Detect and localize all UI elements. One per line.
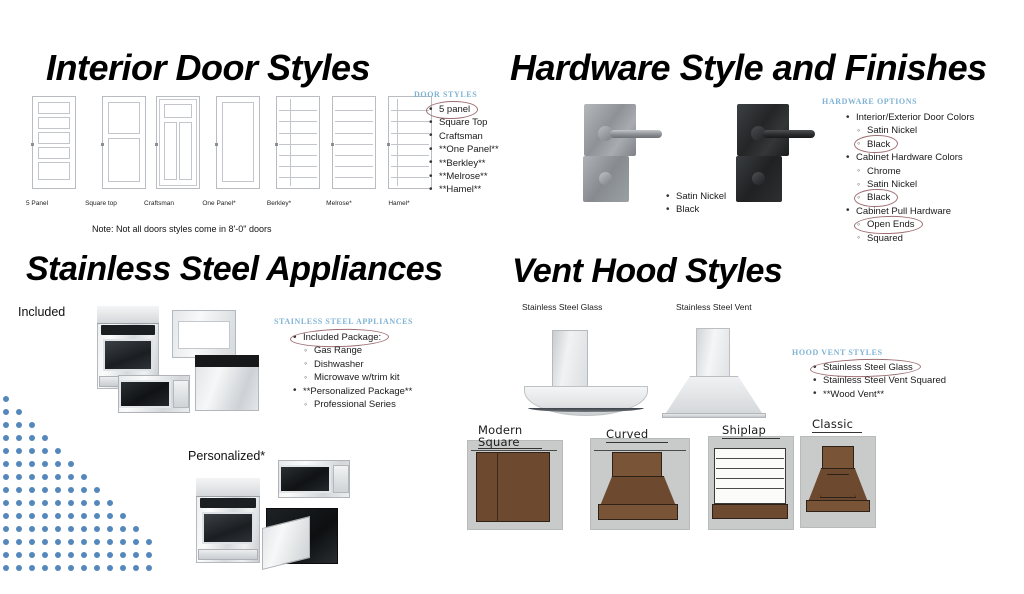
decor-dot bbox=[29, 461, 35, 467]
decor-dot bbox=[3, 500, 9, 506]
microwave-control-panel bbox=[333, 465, 349, 494]
door-illustration bbox=[276, 96, 320, 189]
decor-dot bbox=[107, 513, 113, 519]
decor-dot bbox=[29, 487, 35, 493]
door-panel bbox=[164, 104, 192, 118]
sketch-top-line bbox=[594, 450, 686, 451]
dishwasher-control-bar bbox=[195, 355, 259, 367]
decor-dot bbox=[94, 526, 100, 532]
decor-dot bbox=[3, 448, 9, 454]
door-knob-icon bbox=[331, 143, 334, 146]
door-style-option-item[interactable]: **One Panel** bbox=[428, 143, 499, 156]
door-illustration bbox=[102, 96, 146, 189]
decor-dot bbox=[29, 565, 35, 571]
decor-dot bbox=[29, 500, 35, 506]
decor-dot bbox=[16, 552, 22, 558]
door-slat-line bbox=[279, 121, 317, 122]
door-slat-line bbox=[335, 110, 373, 111]
deadbolt-thumbturn bbox=[752, 172, 765, 185]
decor-dot bbox=[120, 513, 126, 519]
hood-sketch-caption-curved: Curved bbox=[606, 428, 648, 440]
decor-dot bbox=[16, 474, 22, 480]
hardware-option-item-label: Black bbox=[867, 138, 890, 151]
decor-dot bbox=[16, 422, 22, 428]
door-caption: Melrose* bbox=[308, 200, 370, 207]
decor-dot bbox=[120, 526, 126, 532]
sketch-hood-flare bbox=[600, 476, 676, 506]
door-style-option-item-label: Square Top bbox=[439, 117, 487, 128]
decor-dot bbox=[107, 539, 113, 545]
decor-dot bbox=[68, 539, 74, 545]
hood-vent-options-header: HOOD VENT STYLES bbox=[792, 348, 883, 357]
section-title-hardware-style-and-finishes: Hardware Style and Finishes bbox=[510, 47, 987, 89]
section-title-interior-door-styles: Interior Door Styles bbox=[46, 47, 370, 89]
decor-dot bbox=[107, 565, 113, 571]
decor-dot bbox=[133, 539, 139, 545]
decor-dot bbox=[42, 552, 48, 558]
door-style-option-item-label: **Hamel** bbox=[439, 184, 481, 195]
section-title-stainless-steel-appliances: Stainless Steel Appliances bbox=[26, 250, 443, 289]
hardware-option-item-label: Black bbox=[867, 191, 890, 204]
lever-handle bbox=[763, 130, 815, 138]
doors-note: Note: Not all doors styles come in 8'-0"… bbox=[92, 224, 272, 234]
decor-dot bbox=[29, 539, 35, 545]
lever-handle bbox=[610, 130, 662, 138]
hood-sketch-caption-shiplap: Shiplap bbox=[722, 424, 766, 436]
hood-photo-stainless-steel-vent bbox=[660, 328, 780, 432]
hood-sketch-shiplap bbox=[708, 436, 794, 530]
appliances-options-header: STAINLESS STEEL APPLIANCES bbox=[274, 317, 413, 326]
decor-dot bbox=[3, 565, 9, 571]
decor-dot bbox=[16, 565, 22, 571]
hardware-option-item[interactable]: Chrome bbox=[845, 165, 974, 178]
decor-dot bbox=[94, 513, 100, 519]
decor-dot bbox=[55, 474, 61, 480]
door-style-option-item[interactable]: 5 panel bbox=[428, 103, 499, 116]
door-slat-line bbox=[279, 166, 317, 167]
decor-dot bbox=[81, 487, 87, 493]
decor-dot bbox=[55, 513, 61, 519]
hardware-option-item[interactable]: Cabinet Hardware Colors bbox=[845, 151, 974, 164]
decor-dot bbox=[55, 526, 61, 532]
hardware-option-item[interactable]: Black bbox=[845, 138, 974, 151]
decor-dot bbox=[3, 422, 9, 428]
decor-dot bbox=[16, 461, 22, 467]
door-style-captions: 5 PanelSquare topCraftsmanOne Panel*Berk… bbox=[0, 200, 420, 214]
appliance-option-item[interactable]: Included Package: bbox=[292, 331, 412, 344]
decor-dot bbox=[81, 474, 87, 480]
decor-dot bbox=[81, 513, 87, 519]
hood-photo-caption-glass: Stainless Steel Glass bbox=[522, 302, 602, 312]
door-slat-line bbox=[335, 133, 373, 134]
appliance-option-item[interactable]: Dishwasher bbox=[292, 358, 412, 371]
decor-dot bbox=[68, 500, 74, 506]
range-control-panel bbox=[200, 498, 256, 508]
door-slat-line bbox=[335, 121, 373, 122]
decor-dot bbox=[55, 448, 61, 454]
decor-dot bbox=[133, 552, 139, 558]
door-caption: Hamel* bbox=[368, 200, 430, 207]
hardware-option-item-label: Cabinet Hardware Colors bbox=[856, 152, 963, 163]
appliances-included-label: Included bbox=[18, 305, 65, 319]
hardware-option-item-label: Interior/Exterior Door Colors bbox=[856, 112, 974, 123]
decor-dot bbox=[42, 500, 48, 506]
decor-dot bbox=[55, 487, 61, 493]
decor-dot bbox=[120, 539, 126, 545]
door-caption: Berkley* bbox=[248, 200, 310, 207]
sketch-shiplap-line bbox=[716, 488, 784, 489]
sketch-hood-base bbox=[598, 504, 678, 520]
door-knob-icon bbox=[215, 143, 218, 146]
decor-dot bbox=[29, 435, 35, 441]
decor-dot bbox=[94, 500, 100, 506]
decor-dot bbox=[107, 526, 113, 532]
door-caption: One Panel* bbox=[188, 200, 250, 207]
door-slat-line bbox=[279, 177, 317, 178]
decor-dot bbox=[3, 409, 9, 415]
sketch-hood-body bbox=[476, 452, 550, 522]
decor-dot bbox=[55, 500, 61, 506]
door-style-option-item-label: Craftsman bbox=[439, 131, 483, 142]
caption-underline-shiplap bbox=[722, 438, 780, 439]
door-panel bbox=[38, 102, 70, 114]
door-illustration bbox=[388, 96, 432, 189]
door-panel bbox=[222, 102, 254, 182]
decor-dot bbox=[55, 552, 61, 558]
decor-dot bbox=[3, 552, 9, 558]
decor-dot bbox=[16, 487, 22, 493]
door-illustration bbox=[216, 96, 260, 189]
hardware-options-list[interactable]: Interior/Exterior Door ColorsSatin Nicke… bbox=[845, 111, 974, 245]
decor-dot bbox=[3, 474, 9, 480]
hardware-options-header: HARDWARE OPTIONS bbox=[822, 97, 917, 106]
hardware-option-item-label: Chrome bbox=[867, 166, 901, 177]
door-panel bbox=[179, 122, 192, 180]
hood-canopy bbox=[664, 376, 764, 416]
door-illustration bbox=[156, 96, 200, 189]
door-style-option-item-label: **One Panel** bbox=[439, 144, 499, 155]
hood-sketch-caption-modern-square: Modern Square bbox=[478, 424, 522, 448]
door-slat-line bbox=[335, 144, 373, 145]
sketch-hood-base bbox=[806, 500, 870, 512]
sketch-hood-upper bbox=[822, 446, 854, 470]
decor-dot bbox=[3, 435, 9, 441]
hardware-option-item[interactable]: Interior/Exterior Door Colors bbox=[845, 111, 974, 124]
hood-sketch-modern-square bbox=[467, 440, 563, 530]
range-control-panel bbox=[101, 325, 156, 335]
decor-dot bbox=[55, 539, 61, 545]
door-panel bbox=[108, 102, 140, 134]
hardware-finish-captions: Satin NickelBlack bbox=[665, 190, 726, 217]
hood-option-item-label: **Wood Vent** bbox=[823, 389, 884, 400]
door-knob-icon bbox=[387, 143, 390, 146]
sketch-shiplap-line bbox=[716, 468, 784, 469]
caption-underline-modern-square bbox=[478, 448, 542, 449]
appliance-option-item-label: Dishwasher bbox=[314, 359, 364, 370]
hardware-option-item-label: Open Ends bbox=[867, 218, 915, 231]
deadbolt-thumbturn bbox=[599, 172, 612, 185]
decor-dot bbox=[29, 526, 35, 532]
door-style-option-item[interactable]: Craftsman bbox=[428, 130, 499, 143]
decor-dot bbox=[94, 552, 100, 558]
hood-photo-caption-vent: Stainless Steel Vent bbox=[676, 302, 752, 312]
hood-option-item-label: Stainless Steel Vent Squared bbox=[823, 375, 946, 386]
sketch-shiplap-line bbox=[716, 478, 784, 479]
decor-dot bbox=[29, 552, 35, 558]
range-cooktop bbox=[97, 306, 159, 324]
door-panel bbox=[108, 138, 140, 182]
door-styles-options-list[interactable]: 5 panelSquare TopCraftsman**One Panel***… bbox=[428, 103, 499, 197]
hardware-option-item[interactable]: Satin Nickel bbox=[845, 178, 974, 191]
hood-option-item-label: Stainless Steel Glass bbox=[823, 361, 913, 374]
decor-dot bbox=[29, 422, 35, 428]
door-panel bbox=[38, 162, 70, 180]
decor-dot bbox=[16, 409, 22, 415]
door-panel bbox=[38, 147, 70, 159]
appliances-personalized-label: Personalized* bbox=[188, 449, 265, 463]
appliance-dishwasher-personalized bbox=[266, 508, 338, 564]
sketch-hood-base bbox=[712, 504, 788, 519]
decor-dot bbox=[146, 552, 152, 558]
hardware-option-item-label: Satin Nickel bbox=[867, 179, 917, 190]
decor-dot bbox=[81, 565, 87, 571]
appliance-option-item-label: **Personalized Package** bbox=[303, 386, 412, 397]
decor-dot bbox=[42, 474, 48, 480]
decor-dot bbox=[16, 435, 22, 441]
decor-dot bbox=[42, 526, 48, 532]
door-slat-line bbox=[335, 177, 373, 178]
appliance-option-item[interactable]: Microwave w/trim kit bbox=[292, 371, 412, 384]
door-slat-line bbox=[335, 155, 373, 156]
hardware-finish-caption: Satin Nickel bbox=[665, 190, 726, 203]
hood-option-item[interactable]: Stainless Steel Glass bbox=[812, 361, 946, 374]
decor-dot bbox=[68, 461, 74, 467]
appliances-options-list[interactable]: Included Package:Gas RangeDishwasherMicr… bbox=[292, 331, 412, 411]
decor-dot bbox=[3, 526, 9, 532]
appliance-option-item[interactable]: Gas Range bbox=[292, 344, 412, 357]
microwave-control-panel bbox=[173, 380, 189, 409]
hood-vent-options-list[interactable]: Stainless Steel GlassStainless Steel Ven… bbox=[812, 361, 946, 401]
hardware-option-item[interactable]: Cabinet Pull Hardware bbox=[845, 205, 974, 218]
hardware-option-item[interactable]: Satin Nickel bbox=[845, 124, 974, 137]
decor-dot bbox=[81, 552, 87, 558]
door-slat-line bbox=[279, 144, 317, 145]
door-caption: Craftsman bbox=[128, 200, 190, 207]
appliance-option-item-label: Professional Series bbox=[314, 399, 396, 410]
decor-dot bbox=[68, 487, 74, 493]
hardware-option-item[interactable]: Black bbox=[845, 191, 974, 204]
decor-dot bbox=[107, 552, 113, 558]
door-stile-line bbox=[290, 99, 291, 186]
appliance-microwave-trim-kit bbox=[172, 310, 236, 358]
decor-dot bbox=[3, 539, 9, 545]
hood-option-item[interactable]: Stainless Steel Vent Squared bbox=[812, 374, 946, 387]
hood-option-item[interactable]: **Wood Vent** bbox=[812, 388, 946, 401]
door-panel bbox=[38, 117, 70, 129]
hardware-lever-black bbox=[733, 104, 828, 204]
hood-sketch-curved bbox=[590, 438, 690, 530]
door-caption: 5 Panel bbox=[6, 200, 68, 207]
door-slat-line bbox=[279, 133, 317, 134]
door-panel bbox=[38, 132, 70, 144]
door-illustration bbox=[332, 96, 376, 189]
decor-dot bbox=[133, 565, 139, 571]
decor-dot bbox=[55, 565, 61, 571]
door-caption: Square top bbox=[70, 200, 132, 207]
hardware-option-item[interactable]: Squared bbox=[845, 232, 974, 245]
door-illustration bbox=[32, 96, 76, 189]
door-knob-icon bbox=[31, 143, 34, 146]
door-style-option-item[interactable]: **Melrose** bbox=[428, 170, 499, 183]
door-slat-line bbox=[335, 166, 373, 167]
decor-dot bbox=[42, 448, 48, 454]
door-knob-icon bbox=[275, 143, 278, 146]
door-style-option-item-label: **Melrose** bbox=[439, 171, 488, 182]
decor-dot bbox=[68, 526, 74, 532]
appliance-option-item-label: Included Package: bbox=[303, 331, 381, 344]
decor-dot bbox=[29, 474, 35, 480]
decor-dot bbox=[16, 539, 22, 545]
caption-underline-curved bbox=[606, 442, 668, 443]
appliance-option-item[interactable]: Professional Series bbox=[292, 398, 412, 411]
range-cooktop bbox=[196, 478, 260, 497]
appliance-microwave-included bbox=[118, 375, 190, 413]
decor-dot bbox=[120, 552, 126, 558]
decor-dot bbox=[29, 448, 35, 454]
decor-dot bbox=[81, 526, 87, 532]
hardware-option-item-label: Cabinet Pull Hardware bbox=[856, 206, 951, 217]
hood-lip bbox=[662, 413, 766, 418]
range-warming-drawer bbox=[198, 549, 258, 560]
decor-dot bbox=[68, 474, 74, 480]
sketch-hood-upper bbox=[612, 452, 662, 478]
microwave-door bbox=[119, 380, 171, 409]
door-style-option-item[interactable]: **Berkley** bbox=[428, 157, 499, 170]
appliance-microwave-personalized bbox=[278, 460, 350, 498]
caption-underline-classic bbox=[812, 432, 862, 433]
hardware-finish-caption: Black bbox=[665, 203, 726, 216]
decor-dot bbox=[42, 435, 48, 441]
door-style-option-item-label: **Berkley** bbox=[439, 158, 485, 169]
appliance-gas-range-personalized bbox=[196, 478, 260, 563]
section-title-vent-hood-styles: Vent Hood Styles bbox=[512, 252, 782, 291]
door-style-option-item[interactable]: Square Top bbox=[428, 116, 499, 129]
door-styles-options-header: DOOR STYLES bbox=[414, 90, 477, 99]
hardware-option-item-label: Squared bbox=[867, 233, 903, 244]
door-style-option-item[interactable]: **Hamel** bbox=[428, 183, 499, 196]
decor-dot bbox=[94, 539, 100, 545]
decor-dot bbox=[42, 513, 48, 519]
door-slat-line bbox=[279, 155, 317, 156]
door-style-illustrations bbox=[14, 96, 414, 196]
decor-dot bbox=[81, 500, 87, 506]
hood-glass-rim bbox=[528, 408, 644, 412]
decor-dot bbox=[42, 461, 48, 467]
door-knob-icon bbox=[155, 143, 158, 146]
hardware-option-item[interactable]: Open Ends bbox=[845, 218, 974, 231]
hood-chimney bbox=[552, 330, 588, 392]
decor-dot bbox=[133, 526, 139, 532]
sketch-edge-line bbox=[497, 452, 498, 522]
decor-dot bbox=[16, 513, 22, 519]
decor-dot bbox=[107, 500, 113, 506]
decor-dot bbox=[120, 565, 126, 571]
hood-sketch-classic bbox=[800, 436, 876, 528]
sketch-shiplap-line bbox=[716, 458, 784, 459]
door-stile-line bbox=[397, 99, 398, 186]
decor-dot bbox=[81, 539, 87, 545]
hardware-option-item-label: Satin Nickel bbox=[867, 125, 917, 136]
appliance-option-item-label: Microwave w/trim kit bbox=[314, 372, 400, 383]
door-slat-line bbox=[279, 110, 317, 111]
door-panel bbox=[164, 122, 177, 180]
appliance-option-item[interactable]: **Personalized Package** bbox=[292, 385, 412, 398]
slide-canvas: Interior Door Styles 5 PanelSquare topCr… bbox=[0, 0, 1024, 594]
decor-dot bbox=[3, 396, 9, 402]
decor-dot bbox=[42, 487, 48, 493]
decor-dot bbox=[55, 461, 61, 467]
decor-dot bbox=[3, 513, 9, 519]
hood-chimney bbox=[696, 328, 730, 380]
hardware-lever-satin-nickel bbox=[580, 104, 675, 204]
blue-dot-triangle-pattern bbox=[0, 394, 150, 594]
decor-dot bbox=[29, 513, 35, 519]
decor-dot bbox=[146, 565, 152, 571]
decor-dot bbox=[3, 487, 9, 493]
sketch-shiplap-panel bbox=[714, 448, 786, 504]
decor-dot bbox=[3, 461, 9, 467]
trim-kit-opening bbox=[178, 321, 231, 350]
decor-dot bbox=[94, 565, 100, 571]
decor-dot bbox=[146, 539, 152, 545]
door-style-option-item-label: 5 panel bbox=[439, 103, 470, 116]
decor-dot bbox=[68, 552, 74, 558]
range-oven-window bbox=[103, 339, 154, 371]
decor-dot bbox=[68, 513, 74, 519]
door-knob-icon bbox=[101, 143, 104, 146]
decor-dot bbox=[16, 448, 22, 454]
decor-dot bbox=[42, 565, 48, 571]
decor-dot bbox=[16, 526, 22, 532]
decor-dot bbox=[94, 487, 100, 493]
appliance-option-item-label: Gas Range bbox=[314, 345, 362, 356]
microwave-door bbox=[279, 465, 331, 494]
decor-dot bbox=[16, 500, 22, 506]
appliance-dishwasher-included bbox=[195, 355, 259, 411]
hood-photo-stainless-steel-glass bbox=[524, 330, 654, 430]
decor-dot bbox=[42, 539, 48, 545]
decor-dot bbox=[68, 565, 74, 571]
range-oven-window bbox=[202, 512, 255, 544]
hood-sketch-caption-classic: Classic bbox=[812, 418, 853, 430]
sketch-top-line bbox=[471, 450, 557, 451]
